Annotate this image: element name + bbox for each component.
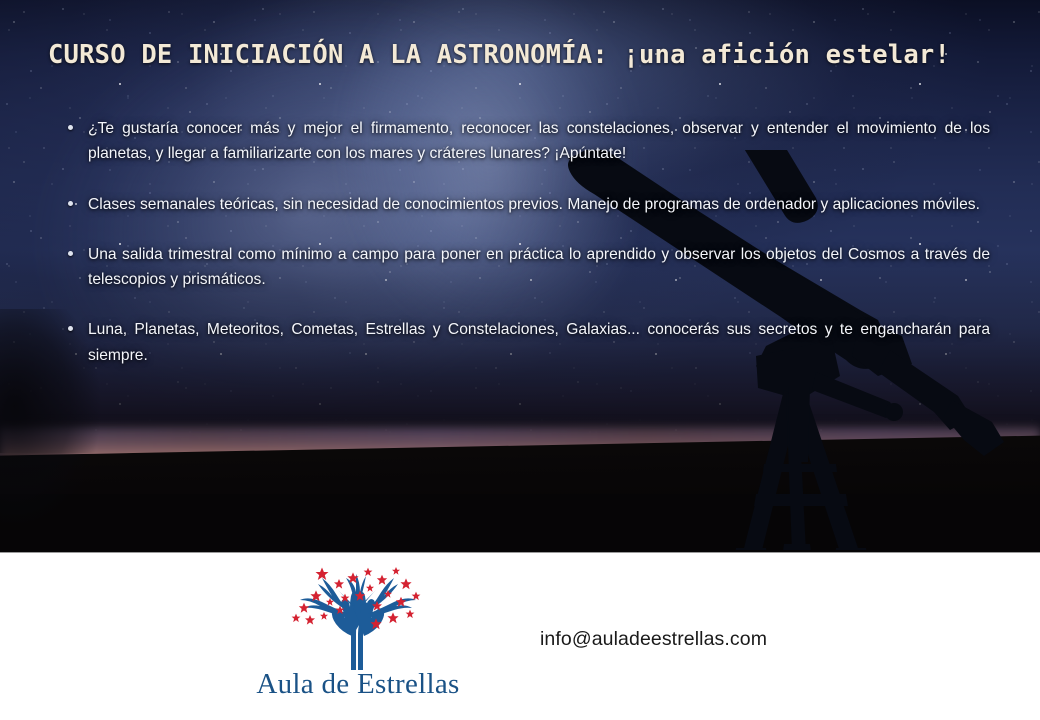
page-title: CURSO DE INICIACIÓN A LA ASTRONOMÍA: ¡un… (48, 40, 950, 70)
contact-email[interactable]: info@auladeestrellas.com (540, 628, 767, 651)
list-item: ¿Te gustaría conocer más y mejor el firm… (60, 116, 990, 167)
list-item-text: Luna, Planetas, Meteoritos, Cometas, Est… (88, 321, 990, 363)
bullet-dot-icon (68, 201, 73, 206)
list-item: Luna, Planetas, Meteoritos, Cometas, Est… (60, 317, 990, 368)
ground-silhouette (0, 435, 1040, 552)
list-item-text: Clases semanales teóricas, sin necesidad… (88, 196, 980, 213)
brand-logo[interactable]: Aula de Estrellas (252, 562, 464, 712)
list-item: Una salida trimestral como mínimo a camp… (60, 242, 990, 293)
bullet-dot-icon (68, 251, 73, 256)
bullet-dot-icon (68, 326, 73, 331)
brand-wordmark: Aula de Estrellas (252, 668, 464, 701)
list-item-text: Una salida trimestral como mínimo a camp… (88, 246, 990, 288)
list-item: Clases semanales teóricas, sin necesidad… (60, 192, 990, 217)
distant-treeline-silhouette (0, 478, 1040, 500)
feature-bullet-list: ¿Te gustaría conocer más y mejor el firm… (60, 116, 990, 368)
sunset-glow (0, 422, 1040, 500)
tree-hands-stars-logo-icon (282, 562, 434, 670)
list-item-text: ¿Te gustaría conocer más y mejor el firm… (88, 120, 990, 162)
hero-night-sky-image: CURSO DE INICIACIÓN A LA ASTRONOMÍA: ¡un… (0, 0, 1040, 553)
ground-silhouette-foreground (0, 494, 1040, 552)
footer-bar: Aula de Estrellas info@auladeestrellas.c… (0, 554, 1040, 720)
horizon-cloud-band (0, 428, 1040, 468)
bullet-dot-icon (68, 125, 73, 130)
poster-root: CURSO DE INICIACIÓN A LA ASTRONOMÍA: ¡un… (0, 0, 1040, 720)
